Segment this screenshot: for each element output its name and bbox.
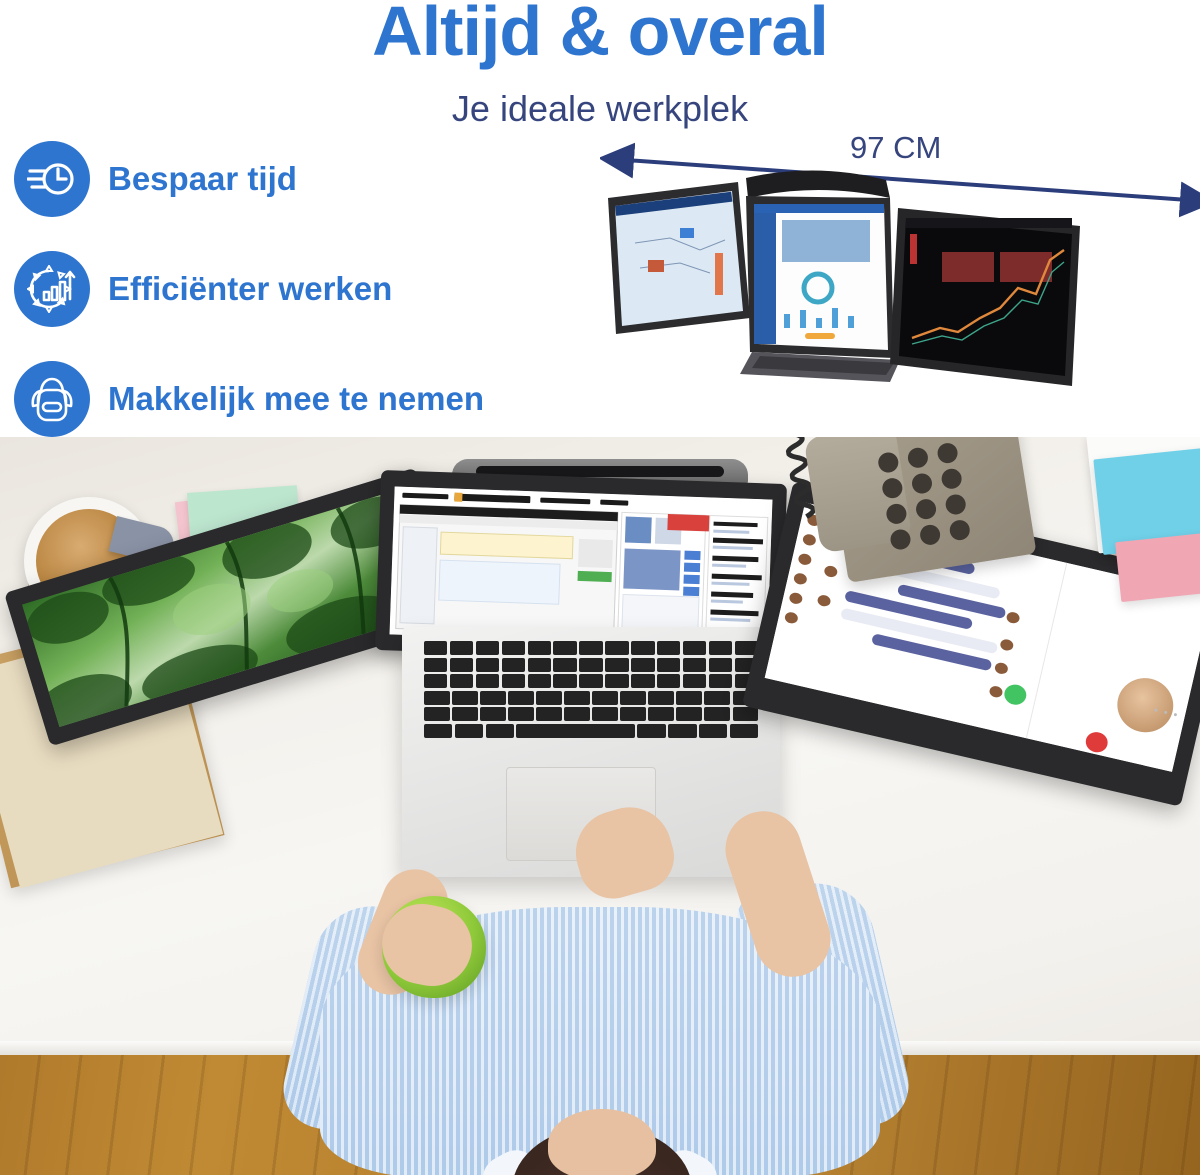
feature-item-bespaar-tijd: Bespaar tijd bbox=[14, 124, 614, 234]
person-face bbox=[548, 1109, 656, 1175]
product-right-screen bbox=[890, 208, 1080, 386]
pink-folder bbox=[1115, 532, 1200, 602]
product-center-screen bbox=[746, 196, 894, 358]
feature-list: Bespaar tijd Efficiënter werk bbox=[14, 124, 614, 437]
end-call-button[interactable] bbox=[1083, 730, 1109, 754]
feature-label: Efficiënter werken bbox=[108, 270, 392, 308]
laptop-keyboard[interactable] bbox=[424, 641, 758, 757]
feature-label: Bespaar tijd bbox=[108, 160, 297, 198]
feature-label: Makkelijk mee te nemen bbox=[108, 380, 484, 418]
phone-keypad[interactable] bbox=[877, 441, 975, 551]
product-image bbox=[560, 168, 1200, 398]
lifestyle-photo bbox=[0, 437, 1200, 1175]
page-title: Altijd & overal bbox=[0, 0, 1200, 66]
feature-item-makkelijk-mee-te-nemen: Makkelijk mee te nemen bbox=[14, 344, 614, 437]
backpack-icon bbox=[14, 361, 90, 437]
clock-speed-icon bbox=[14, 141, 90, 217]
gear-chart-icon bbox=[14, 251, 90, 327]
header-section: Altijd & overal Je ideale werkplek Bespa… bbox=[0, 0, 1200, 437]
feature-item-efficienter-werken: Efficiënter werken bbox=[14, 234, 614, 344]
product-left-screen bbox=[608, 182, 750, 334]
laptop-screen bbox=[390, 486, 773, 647]
caller-avatar bbox=[1112, 672, 1179, 737]
